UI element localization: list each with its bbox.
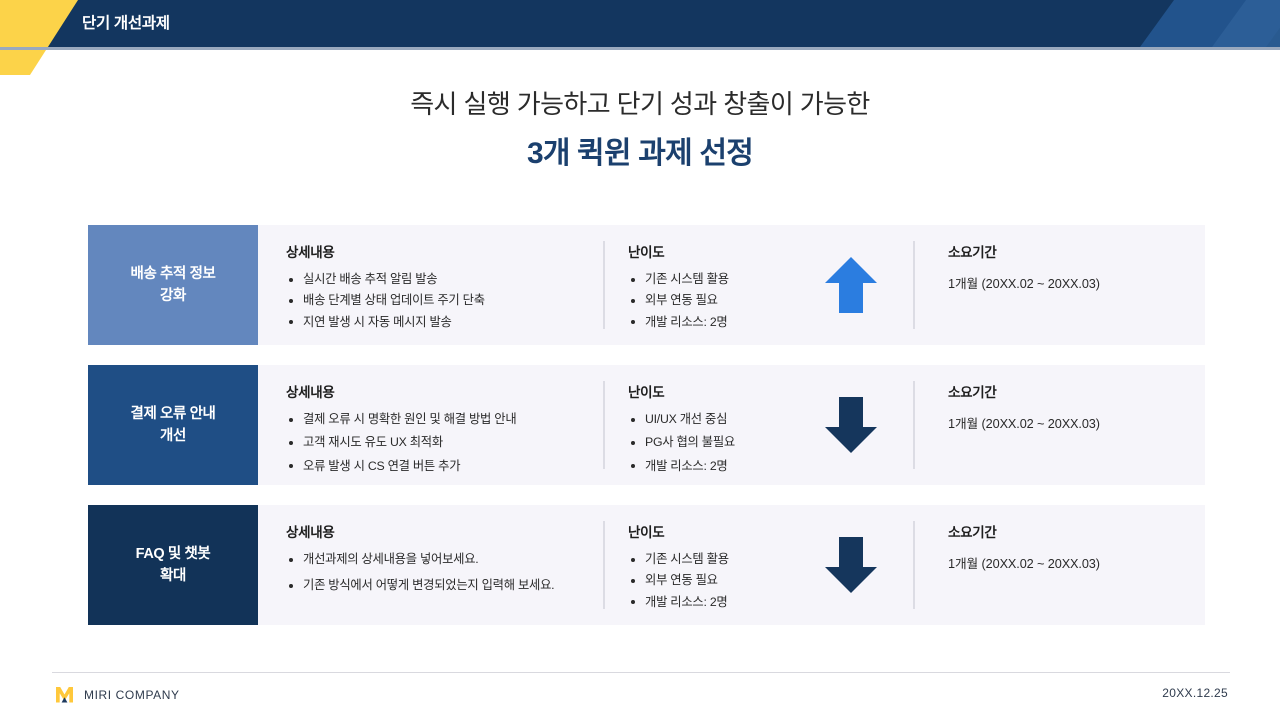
list-item: 개발 리소스: 2명: [628, 596, 789, 608]
task-difficulty-column: 난이도 기존 시스템 활용 외부 연동 필요 개발 리소스: 2명: [603, 505, 789, 625]
footer-date: 20XX.12.25: [1162, 686, 1228, 700]
list-item: 오류 발생 시 CS 연결 버튼 추가: [286, 460, 603, 472]
column-divider: [913, 241, 915, 329]
list-item: UI/UX 개선 중심: [628, 413, 789, 425]
footer-brand-group: MIRI COMPANY: [54, 684, 180, 705]
task-difficulty-column: 난이도 기존 시스템 활용 외부 연동 필요 개발 리소스: 2명: [603, 225, 789, 345]
difficulty-bullet-list: 기존 시스템 활용 외부 연동 필요 개발 리소스: 2명: [628, 273, 789, 328]
task-label: FAQ 및 챗봇확대: [88, 505, 258, 625]
difficulty-column-heading: 난이도: [628, 521, 789, 541]
footer-brand-name: MIRI COMPANY: [84, 688, 180, 702]
list-item: 기존 방식에서 어떻게 변경되었는지 입력해 보세요.: [286, 579, 603, 591]
task-trend-column: [789, 365, 913, 485]
difficulty-bullet-list: UI/UX 개선 중심 PG사 협의 불필요 개발 리소스: 2명: [628, 413, 789, 472]
header-underline: [0, 47, 1280, 50]
task-period-column: 소요기간 1개월 (20XX.02 ~ 20XX.03): [913, 505, 1205, 625]
period-column-heading: 소요기간: [948, 521, 1205, 541]
column-divider: [603, 521, 605, 609]
task-trend-column: [789, 225, 913, 345]
detail-column-heading: 상세내용: [286, 381, 603, 401]
difficulty-column-heading: 난이도: [628, 241, 789, 261]
arrow-up-icon: [823, 255, 879, 315]
task-detail-column: 상세내용 실시간 배송 추적 알림 발송 배송 단계별 상태 업데이트 주기 단…: [258, 225, 603, 345]
column-divider: [913, 521, 915, 609]
list-item: 실시간 배송 추적 알림 발송: [286, 273, 603, 285]
list-item: 외부 연동 필요: [628, 574, 789, 586]
list-item: 외부 연동 필요: [628, 294, 789, 306]
detail-column-heading: 상세내용: [286, 241, 603, 261]
task-rows: 배송 추적 정보강화 상세내용 실시간 배송 추적 알림 발송 배송 단계별 상…: [88, 225, 1205, 625]
task-label: 배송 추적 정보강화: [88, 225, 258, 345]
period-column-heading: 소요기간: [948, 241, 1205, 261]
difficulty-column-heading: 난이도: [628, 381, 789, 401]
task-row[interactable]: 배송 추적 정보강화 상세내용 실시간 배송 추적 알림 발송 배송 단계별 상…: [88, 225, 1205, 345]
slide-subtitle: 즉시 실행 가능하고 단기 성과 창출이 가능한: [0, 88, 1280, 121]
task-trend-column: [789, 505, 913, 625]
column-divider: [603, 241, 605, 329]
list-item: 결제 오류 시 명확한 원인 및 해결 방법 안내: [286, 413, 603, 425]
miri-logo-icon: [54, 684, 75, 705]
header-label: 단기 개선과제: [82, 0, 170, 47]
list-item: 배송 단계별 상태 업데이트 주기 단축: [286, 294, 603, 306]
difficulty-bullet-list: 기존 시스템 활용 외부 연동 필요 개발 리소스: 2명: [628, 553, 789, 608]
slide-main-title: 3개 퀵윈 과제 선정: [0, 135, 1280, 173]
column-divider: [913, 381, 915, 469]
column-divider: [603, 381, 605, 469]
period-column-heading: 소요기간: [948, 381, 1205, 401]
list-item: PG사 협의 불필요: [628, 436, 789, 448]
slide-header: 단기 개선과제: [0, 0, 1280, 47]
list-item: 개선과제의 상세내용을 넣어보세요.: [286, 553, 603, 565]
detail-bullet-list: 개선과제의 상세내용을 넣어보세요. 기존 방식에서 어떻게 변경되었는지 입력…: [286, 553, 603, 592]
task-row[interactable]: 결제 오류 안내개선 상세내용 결제 오류 시 명확한 원인 및 해결 방법 안…: [88, 365, 1205, 485]
task-period-column: 소요기간 1개월 (20XX.02 ~ 20XX.03): [913, 225, 1205, 345]
task-label: 결제 오류 안내개선: [88, 365, 258, 485]
list-item: 기존 시스템 활용: [628, 273, 789, 285]
period-value: 1개월 (20XX.02 ~ 20XX.03): [948, 553, 1205, 572]
detail-bullet-list: 실시간 배송 추적 알림 발송 배송 단계별 상태 업데이트 주기 단축 지연 …: [286, 273, 603, 328]
detail-column-heading: 상세내용: [286, 521, 603, 541]
period-value: 1개월 (20XX.02 ~ 20XX.03): [948, 273, 1205, 292]
arrow-down-icon: [823, 535, 879, 595]
list-item: 고객 재시도 유도 UX 최적화: [286, 436, 603, 448]
list-item: 지연 발생 시 자동 메시지 발송: [286, 316, 603, 328]
footer-divider: [52, 672, 1230, 673]
list-item: 개발 리소스: 2명: [628, 460, 789, 472]
list-item: 개발 리소스: 2명: [628, 316, 789, 328]
task-row[interactable]: FAQ 및 챗봇확대 상세내용 개선과제의 상세내용을 넣어보세요. 기존 방식…: [88, 505, 1205, 625]
task-detail-column: 상세내용 결제 오류 시 명확한 원인 및 해결 방법 안내 고객 재시도 유도…: [258, 365, 603, 485]
task-difficulty-column: 난이도 UI/UX 개선 중심 PG사 협의 불필요 개발 리소스: 2명: [603, 365, 789, 485]
list-item: 기존 시스템 활용: [628, 553, 789, 565]
detail-bullet-list: 결제 오류 시 명확한 원인 및 해결 방법 안내 고객 재시도 유도 UX 최…: [286, 413, 603, 472]
task-detail-column: 상세내용 개선과제의 상세내용을 넣어보세요. 기존 방식에서 어떻게 변경되었…: [258, 505, 603, 625]
arrow-down-icon: [823, 395, 879, 455]
period-value: 1개월 (20XX.02 ~ 20XX.03): [948, 413, 1205, 432]
task-period-column: 소요기간 1개월 (20XX.02 ~ 20XX.03): [913, 365, 1205, 485]
slide-title-block: 즉시 실행 가능하고 단기 성과 창출이 가능한 3개 퀵윈 과제 선정: [0, 88, 1280, 172]
